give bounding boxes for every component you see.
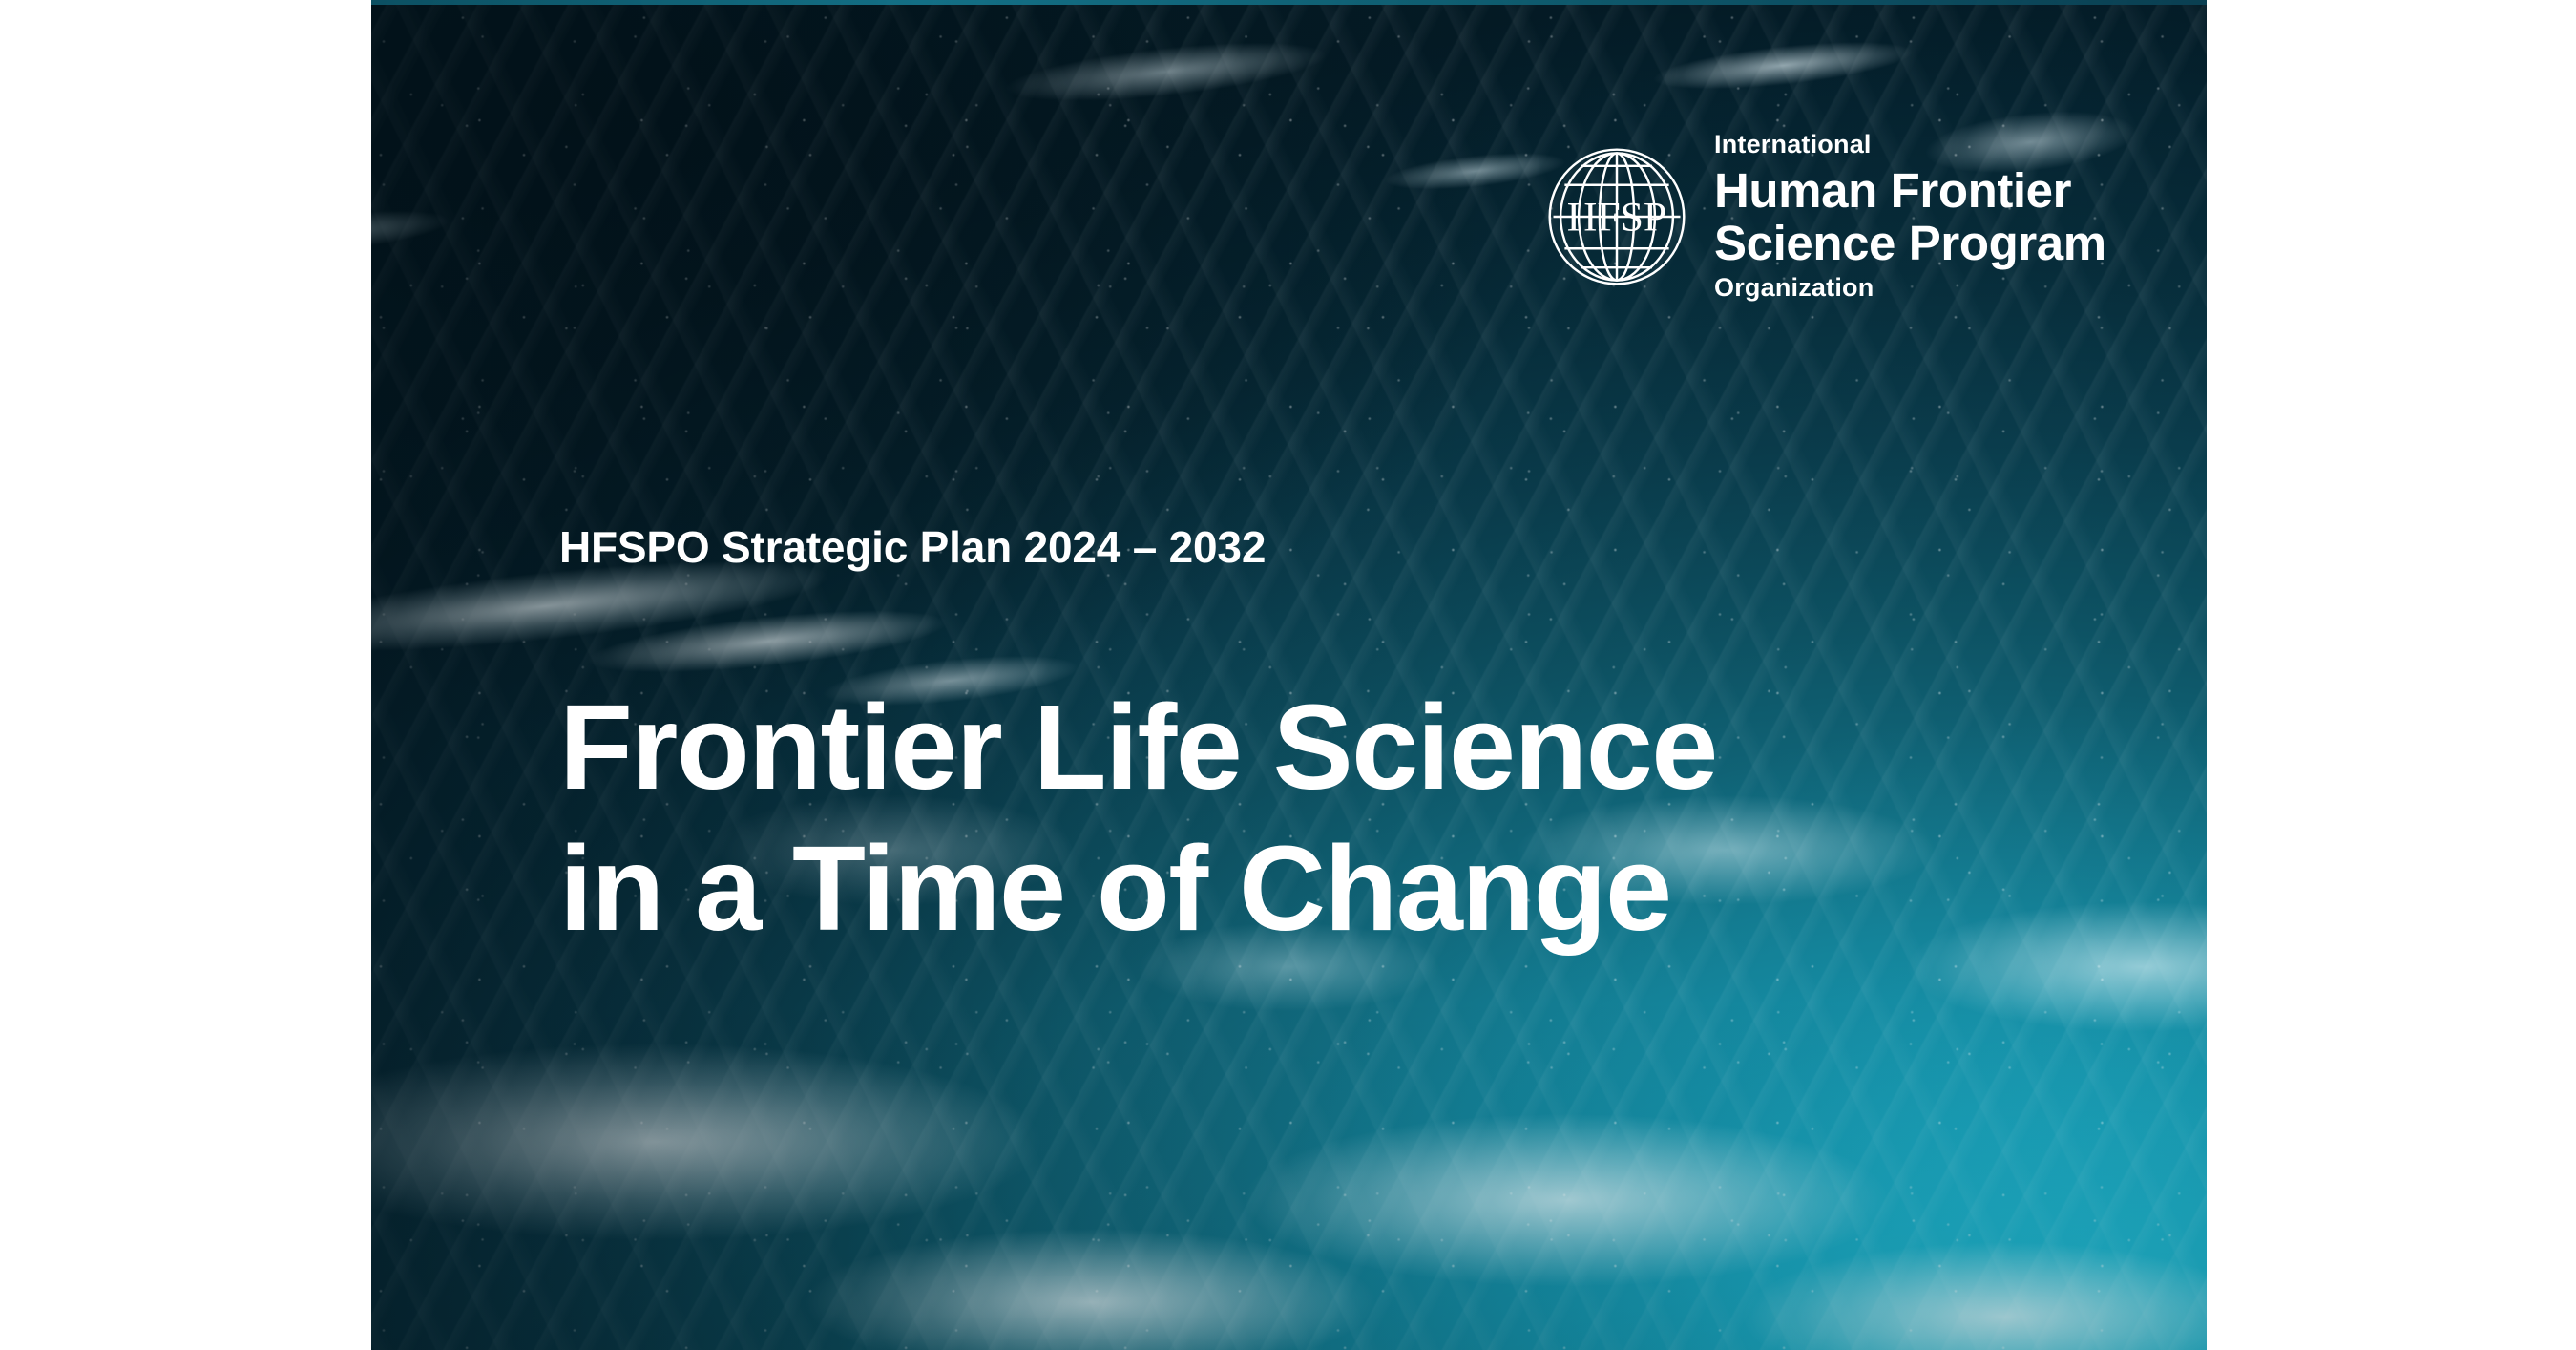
page-title: Frontier Life Science in a Time of Chang…: [559, 677, 1819, 960]
cover-slide: HFSP International Human Frontier Scienc…: [0, 0, 2576, 1350]
logo-line-human-frontier: Human Frontier: [1714, 164, 2106, 217]
logo-line-international: International: [1714, 132, 2106, 158]
hfspo-logo: HFSP International Human Frontier Scienc…: [1544, 132, 2106, 301]
logo-line-organization: Organization: [1714, 275, 2106, 301]
photo-top-edge-highlight: [371, 0, 2207, 5]
hfspo-logo-text: International Human Frontier Science Pro…: [1714, 132, 2106, 301]
headline-line-1: Frontier Life Science: [559, 677, 1819, 819]
headline-line-2: in a Time of Change: [559, 818, 1819, 960]
eyebrow-strategic-plan: HFSPO Strategic Plan 2024 – 2032: [559, 523, 1819, 572]
logo-line-science-program: Science Program: [1714, 217, 2106, 269]
hfsp-globe-icon: HFSP: [1544, 144, 1689, 289]
title-block: HFSPO Strategic Plan 2024 – 2032 Frontie…: [559, 523, 1819, 960]
hfsp-globe-wordmark: HFSP: [1567, 194, 1666, 240]
